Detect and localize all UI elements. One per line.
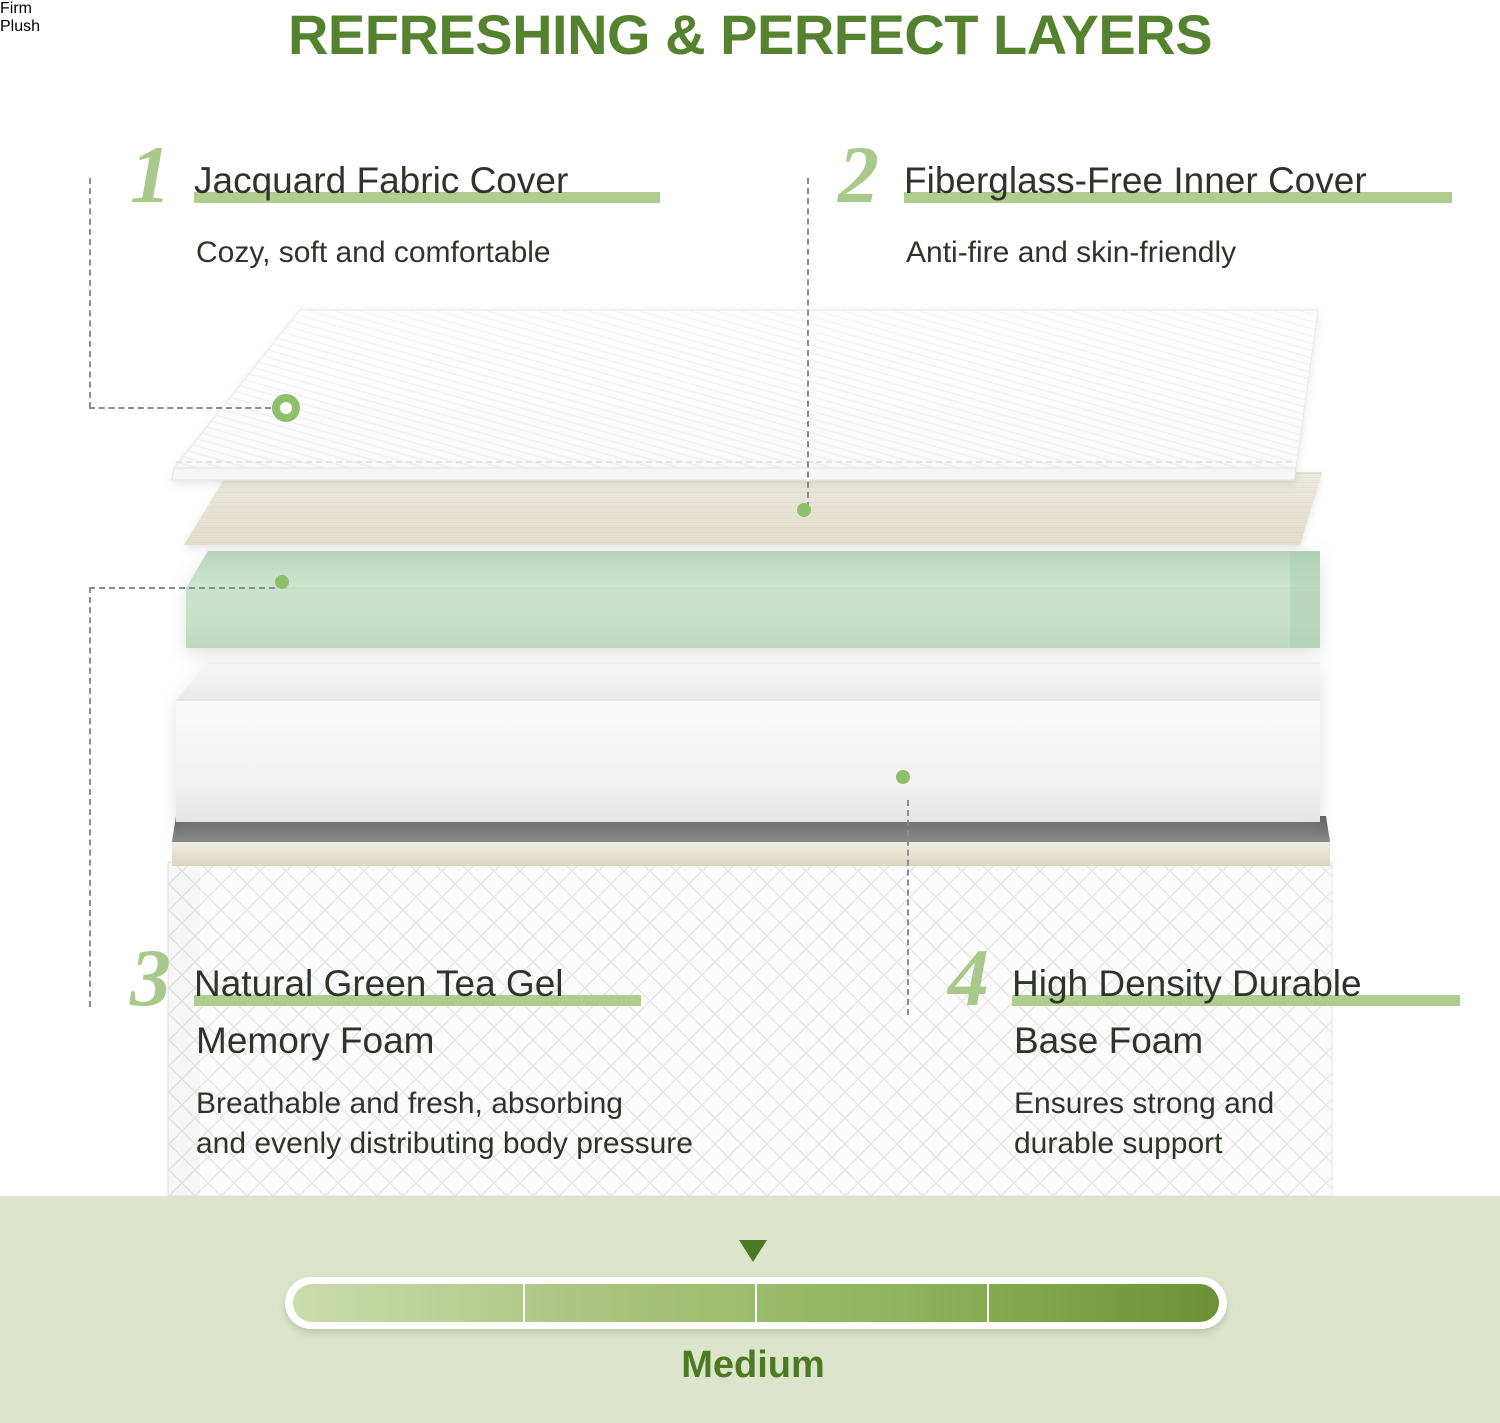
callout-3-subtitle: Breathable and fresh, absorbing xyxy=(196,1084,693,1124)
marker-dot-4 xyxy=(896,770,910,784)
callout-1-number: 1 xyxy=(130,134,171,216)
firmness-segment-1[interactable] xyxy=(293,1284,523,1322)
marker-dot-1 xyxy=(272,394,300,422)
callout-4-subtitle-line2: durable support xyxy=(1014,1124,1362,1164)
layer-green-tea-gel-memory-foam xyxy=(186,551,1320,648)
callout-3: 3 Natural Green Tea Gel Memory Foam Brea… xyxy=(130,963,693,1164)
marker-dot-2 xyxy=(797,503,811,517)
callout-3-heading: Natural Green Tea Gel xyxy=(194,963,564,1004)
callout-1: 1 Jacquard Fabric Cover Cozy, soft and c… xyxy=(130,160,568,273)
layer-piping xyxy=(172,838,1330,866)
firmness-current-label: Medium xyxy=(681,1344,825,1386)
firmness-segment-3[interactable] xyxy=(755,1284,987,1322)
callout-4-heading-line2: Base Foam xyxy=(1014,1020,1362,1061)
callout-3-number: 3 xyxy=(130,937,171,1019)
firmness-slider-track[interactable] xyxy=(285,1277,1227,1329)
callout-3-heading-line2: Memory Foam xyxy=(196,1020,693,1061)
callout-4-heading: High Density Durable xyxy=(1012,963,1362,1004)
callout-2-number: 2 xyxy=(838,134,879,216)
firmness-segment-4[interactable] xyxy=(987,1284,1219,1322)
callout-1-heading: Jacquard Fabric Cover xyxy=(194,160,568,201)
callout-3-subtitle-line2: and evenly distributing body pressure xyxy=(196,1124,693,1164)
callout-2-heading: Fiberglass-Free Inner Cover xyxy=(904,160,1367,201)
firmness-slider-fill xyxy=(293,1284,1219,1322)
firmness-current-label-wrap: Medium xyxy=(573,1344,933,1387)
callout-2-subtitle: Anti-fire and skin-friendly xyxy=(906,233,1367,273)
firmness-segment-2[interactable] xyxy=(523,1284,755,1322)
callout-4-subtitle: Ensures strong and xyxy=(1014,1084,1362,1124)
infographic-root: REFRESHING & PERFECT LAYERS xyxy=(0,0,1500,1423)
callout-1-subtitle: Cozy, soft and comfortable xyxy=(196,233,568,273)
callout-2: 2 Fiberglass-Free Inner Cover Anti-fire … xyxy=(838,160,1367,273)
firmness-marker-triangle-icon xyxy=(739,1240,767,1262)
marker-dot-3 xyxy=(275,575,289,589)
layer-high-density-base-foam xyxy=(176,663,1320,822)
layer-jacquard-fabric-cover xyxy=(172,310,1318,480)
callout-4-number: 4 xyxy=(948,937,989,1019)
callout-4: 4 High Density Durable Base Foam Ensures… xyxy=(948,963,1362,1164)
layer-fiberglass-free-inner-cover xyxy=(184,473,1322,545)
